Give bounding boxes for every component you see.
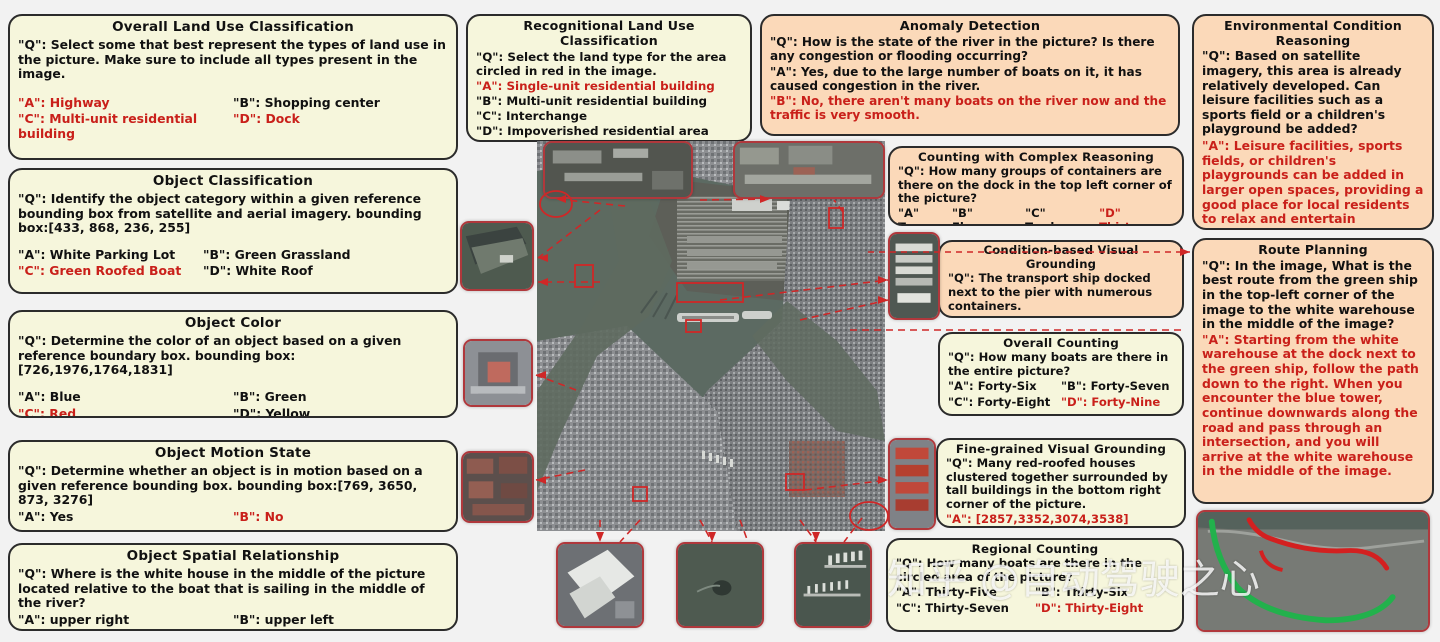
thumbnail-white-warehouse[interactable]: [556, 542, 644, 628]
question-text: "Q": How many groups of containers are t…: [898, 165, 1174, 206]
question-text: "Q": Select some that best represent the…: [18, 38, 448, 82]
option-a[interactable]: "A": Blue: [18, 390, 233, 405]
option-b[interactable]: "B": Multi-unit residential building: [476, 94, 742, 108]
thumbnail-red-roof-houses[interactable]: [888, 438, 936, 530]
option-c[interactable]: "C": Green Roofed Boat: [18, 264, 203, 279]
option-d[interactable]: "D": below: [233, 629, 448, 631]
option-d[interactable]: "D": Dock: [233, 112, 448, 141]
option-c[interactable]: "C" Twelve: [1025, 207, 1089, 226]
panel-environmental-condition-reasoning: Environmental Condition Reasoning "Q": B…: [1192, 14, 1434, 230]
answer-text: "A": Leisure facilities, sports fields, …: [1202, 139, 1424, 230]
panel-title: Fine-grained Visual Grounding: [946, 442, 1176, 456]
panel-title: Environmental Condition Reasoning: [1202, 19, 1424, 48]
question-text: "Q": Determine the color of an object ba…: [18, 334, 448, 378]
option-b[interactable]: "B": Green: [233, 390, 448, 405]
panel-counting-complex-reasoning: Counting with Complex Reasoning "Q": How…: [888, 146, 1184, 226]
option-b[interactable]: "B": Forty-Seven: [1061, 380, 1174, 394]
option-d[interactable]: "D": White Roof: [203, 264, 448, 279]
question-text: "Q": Many red-roofed houses clustered to…: [946, 457, 1176, 512]
option-b[interactable]: "B": upper left: [233, 613, 448, 628]
option-a[interactable]: "A" Ten: [898, 207, 942, 226]
option-d[interactable]: "D": Impoverished residential area: [476, 124, 742, 138]
thumbnail-container-ship[interactable]: [888, 232, 940, 320]
route-planning-map-image[interactable]: [1196, 510, 1430, 632]
option-d[interactable]: "D": Forty-Nine: [1061, 396, 1174, 410]
question-text: "Q": Determine whether an object is in m…: [18, 464, 448, 508]
satellite-imagery: [537, 141, 885, 531]
option-a[interactable]: "A": Highway: [18, 96, 233, 111]
option-b[interactable]: "B": No, there aren't many boats on the …: [770, 94, 1170, 123]
thumbnail-residential-cluster[interactable]: [461, 451, 534, 523]
panel-object-spatial-relationship: Object Spatial Relationship "Q": Where i…: [8, 543, 458, 631]
question-text: "Q": Based on satellite imagery, this ar…: [1202, 49, 1424, 137]
option-d[interactable]: "D": Yellow: [233, 407, 448, 418]
answer-text: "A": Starting from the white warehouse a…: [1202, 333, 1424, 479]
question-text: "Q": The transport ship docked next to t…: [948, 272, 1174, 313]
panel-object-color: Object Color "Q": Determine the color of…: [8, 310, 458, 418]
panel-recognitional-land-use: Recognitional Land Use Classification "Q…: [466, 14, 752, 142]
option-a[interactable]: "A": upper right: [18, 613, 233, 628]
thumbnail-urban-topright[interactable]: [733, 141, 885, 199]
panel-route-planning: Route Planning "Q": In the image, What i…: [1192, 238, 1434, 504]
panel-title: Object Classification: [18, 174, 448, 190]
question-text: "Q": How many boats are there in the cir…: [896, 557, 1174, 584]
panel-title: Anomaly Detection: [770, 19, 1170, 34]
option-a[interactable]: "A": Yes, due to the large number of boa…: [770, 65, 1170, 94]
option-b[interactable]: "B" Eleven: [952, 207, 1015, 226]
panel-title: Overall Land Use Classification: [18, 20, 448, 36]
question-text: "Q": In the image, What is the best rout…: [1202, 259, 1424, 332]
panel-regional-counting: Regional Counting "Q": How many boats ar…: [886, 538, 1184, 632]
thumbnail-red-building[interactable]: [463, 339, 533, 407]
panel-title: Object Spatial Relationship: [18, 549, 448, 565]
panel-title: Condition-based Visual Grounding: [948, 244, 1174, 271]
answer-text: "A": [2857,3352,3074,3538]: [946, 513, 1176, 527]
option-a[interactable]: "A": Yes: [18, 510, 233, 525]
option-a[interactable]: "A": White Parking Lot: [18, 248, 203, 263]
question-text: "Q": How is the state of the river in th…: [770, 35, 1170, 64]
panel-title: Overall Counting: [948, 336, 1174, 350]
panel-object-motion-state: Object Motion State "Q": Determine wheth…: [8, 440, 458, 532]
panel-title: Object Color: [18, 316, 448, 332]
option-d[interactable]: "D": Thirty-Eight: [1035, 602, 1174, 616]
panel-object-classification: Object Classification "Q": Identify the …: [8, 168, 458, 294]
option-c[interactable]: "C": Forty-Eight: [948, 396, 1061, 410]
panel-title: Object Motion State: [18, 446, 448, 462]
option-a[interactable]: "A": Thirty-Five: [896, 586, 1035, 600]
thumbnail-container-dock-topleft[interactable]: [543, 141, 693, 199]
thumbnail-sailing-boat[interactable]: [676, 542, 764, 628]
panel-fine-grained-visual-grounding: Fine-grained Visual Grounding "Q": Many …: [936, 438, 1186, 528]
panel-title: Counting with Complex Reasoning: [898, 150, 1174, 164]
route-map-graphic: [1198, 512, 1428, 630]
panel-condition-based-visual-grounding: Condition-based Visual Grounding "Q": Th…: [938, 240, 1184, 318]
thumbnail-marina-boats[interactable]: [794, 542, 872, 628]
question-text: "Q": Identify the object category within…: [18, 192, 448, 236]
option-b[interactable]: "B": Green Grassland: [203, 248, 448, 263]
panel-title: Regional Counting: [896, 542, 1174, 556]
option-b[interactable]: "B": Thirty-Six: [1035, 586, 1174, 600]
option-b[interactable]: "B": No: [233, 510, 448, 525]
thumbnail-green-ship[interactable]: [460, 221, 534, 291]
panel-overall-counting: Overall Counting "Q": How many boats are…: [938, 332, 1184, 416]
option-c[interactable]: "C": Red: [18, 407, 233, 418]
panel-title: Recognitional Land Use Classification: [476, 19, 742, 49]
option-c[interactable]: "C": lower right: [18, 629, 233, 631]
panel-anomaly-detection: Anomaly Detection "Q": How is the state …: [760, 14, 1180, 136]
option-d[interactable]: "D" Thirteen: [1099, 207, 1174, 226]
option-b[interactable]: "B": Shopping center: [233, 96, 448, 111]
question-text: "Q": Select the land type for the area c…: [476, 50, 742, 78]
option-a[interactable]: "A": Single-unit residential building: [476, 79, 742, 93]
question-text: "Q": Where is the white house in the mid…: [18, 567, 448, 611]
option-c[interactable]: "C": Interchange: [476, 109, 742, 123]
option-c[interactable]: "C": Thirty-Seven: [896, 602, 1035, 616]
panel-title: Route Planning: [1202, 243, 1424, 258]
option-a[interactable]: "A": Forty-Six: [948, 380, 1061, 394]
panel-overall-land-use: Overall Land Use Classification "Q": Sel…: [8, 14, 458, 160]
satellite-main-image[interactable]: [537, 141, 885, 531]
option-c[interactable]: "C": Multi-unit residential building: [18, 112, 233, 141]
question-text: "Q": How many boats are there in the ent…: [948, 351, 1174, 378]
